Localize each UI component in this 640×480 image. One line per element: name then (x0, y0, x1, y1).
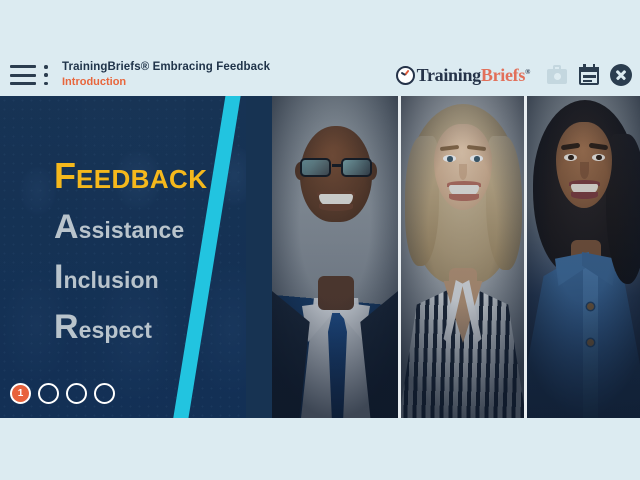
logo-word-training: Training (417, 65, 481, 85)
page-subtitle: Introduction (62, 76, 270, 89)
logo-wordmark: TrainingBriefs® (417, 65, 530, 86)
stopwatch-icon (396, 66, 415, 85)
title-block: TrainingBriefs® Embracing Feedback Intro… (62, 61, 270, 89)
acronym-line-inclusion: I nclusion (54, 260, 207, 294)
calendar-line (583, 75, 596, 78)
logo-word-briefs: Briefs (481, 65, 525, 85)
top-bar-left: TrainingBriefs® Embracing Feedback Intro… (0, 61, 270, 89)
pupil-right (474, 156, 480, 162)
briefcase-download-icon[interactable] (546, 64, 568, 86)
photo-man-suit-glasses (272, 96, 398, 418)
acronym-line-respect: R espect (54, 310, 207, 344)
acronym-line-feedback: F EEDBACK (54, 158, 207, 194)
logo-registered-mark: ® (525, 68, 530, 76)
acronym-word-feedback: EEDBACK (76, 166, 207, 192)
kebab-menu-icon[interactable] (40, 65, 52, 85)
top-bar-right: TrainingBriefs® (396, 64, 640, 86)
lower-lip (449, 194, 479, 201)
lens-left (300, 158, 331, 177)
shirt-button (587, 339, 594, 346)
photo-woman-striped-shirt (401, 96, 524, 418)
fair-acronym: F EEDBACK A ssistance I nclusion R espec… (54, 158, 207, 344)
calendar-header (579, 67, 599, 72)
acronym-cap-f: F (54, 158, 76, 194)
hamburger-icon[interactable] (10, 65, 36, 85)
lens-right (341, 158, 372, 177)
acronym-word-assistance: ssistance (79, 219, 185, 242)
hamburger-line (10, 65, 36, 68)
page-title: TrainingBriefs® Embracing Feedback (62, 61, 270, 75)
acronym-word-inclusion: nclusion (63, 269, 158, 292)
photo-strip (272, 96, 640, 418)
notes-calendar-icon[interactable] (578, 64, 600, 86)
pupil-left (568, 155, 574, 161)
slide-canvas: F EEDBACK A ssistance I nclusion R espec… (0, 96, 640, 418)
kebab-dot (44, 65, 48, 69)
shirt-button (587, 303, 594, 310)
acronym-cap-i: I (54, 260, 63, 294)
lower-lip (319, 204, 353, 211)
briefcase-download-arrow (554, 73, 561, 80)
eyeglasses-icon (298, 158, 374, 177)
kebab-dot (44, 73, 48, 77)
trainingbriefs-logo: TrainingBriefs® (396, 65, 530, 86)
hamburger-line (10, 82, 36, 85)
calendar-line (583, 80, 592, 83)
slide-viewer: TrainingBriefs® Embracing Feedback Intro… (0, 0, 640, 480)
close-icon[interactable] (610, 64, 632, 86)
neck (318, 276, 354, 310)
glasses-bridge (332, 164, 341, 167)
acronym-line-assistance: A ssistance (54, 210, 207, 244)
acronym-cap-a: A (54, 210, 79, 244)
acronym-cap-r: R (54, 310, 79, 344)
pagination-dot-4[interactable] (94, 383, 115, 404)
pagination-dot-3[interactable] (66, 383, 87, 404)
slide-pagination: 1 (10, 383, 115, 404)
hamburger-line (10, 74, 36, 77)
nose (459, 164, 467, 180)
pagination-dot-1[interactable]: 1 (10, 383, 31, 404)
pupil-right (596, 155, 602, 161)
photo-woman-denim-shirt (527, 96, 640, 418)
nose (580, 162, 589, 179)
lower-lip (571, 192, 598, 199)
acronym-word-respect: espect (79, 319, 152, 342)
pagination-dot-2[interactable] (38, 383, 59, 404)
top-bar: TrainingBriefs® Embracing Feedback Intro… (0, 54, 640, 96)
kebab-dot (44, 82, 48, 86)
page-background-bottom (0, 418, 640, 480)
pupil-left (447, 156, 453, 162)
